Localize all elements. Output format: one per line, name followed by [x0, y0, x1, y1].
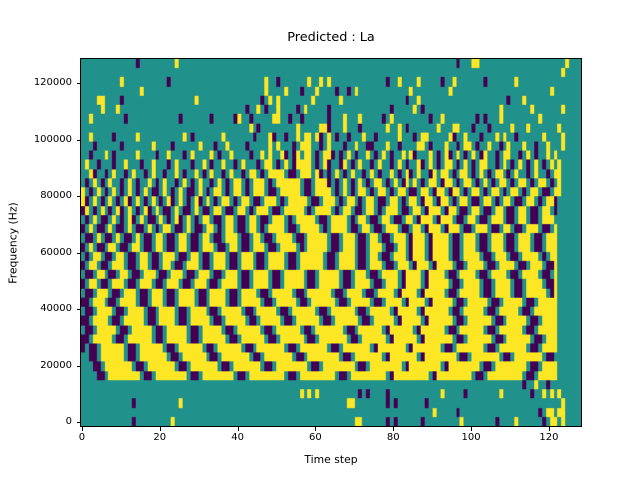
x-axis-label: Time step [80, 453, 582, 466]
y-tick-mark [77, 140, 81, 141]
x-tick-mark [315, 427, 316, 431]
y-tick-label: 100000 [0, 134, 72, 146]
y-tick-mark [77, 83, 81, 84]
x-tick-label: 0 [52, 432, 112, 444]
y-tick-label: 120000 [0, 77, 72, 89]
y-tick-mark [77, 196, 81, 197]
y-tick-mark [77, 422, 81, 423]
x-tick-label: 100 [441, 432, 501, 444]
x-tick-label: 60 [285, 432, 345, 444]
x-tick-mark [471, 427, 472, 431]
y-tick-mark [77, 366, 81, 367]
x-tick-mark [549, 427, 550, 431]
heatmap-image [81, 59, 581, 426]
x-tick-label: 20 [130, 432, 190, 444]
x-tick-mark [238, 427, 239, 431]
x-tick-label: 80 [363, 432, 423, 444]
matplotlib-figure: Predicted : La 0204060801001200200004000… [0, 0, 640, 480]
y-tick-label: 40000 [0, 303, 72, 315]
y-tick-label: 20000 [0, 360, 72, 372]
heatmap-axes [80, 58, 582, 427]
x-tick-mark [393, 427, 394, 431]
x-tick-mark [160, 427, 161, 431]
y-tick-mark [77, 253, 81, 254]
x-tick-mark [82, 427, 83, 431]
y-tick-mark [77, 309, 81, 310]
y-tick-label: 80000 [0, 190, 72, 202]
y-axis-label: Frequency (Hz) [7, 202, 20, 283]
x-tick-label: 120 [519, 432, 579, 444]
x-tick-label: 40 [208, 432, 268, 444]
page-title: Predicted : La [80, 30, 582, 45]
y-tick-label: 0 [0, 416, 72, 428]
